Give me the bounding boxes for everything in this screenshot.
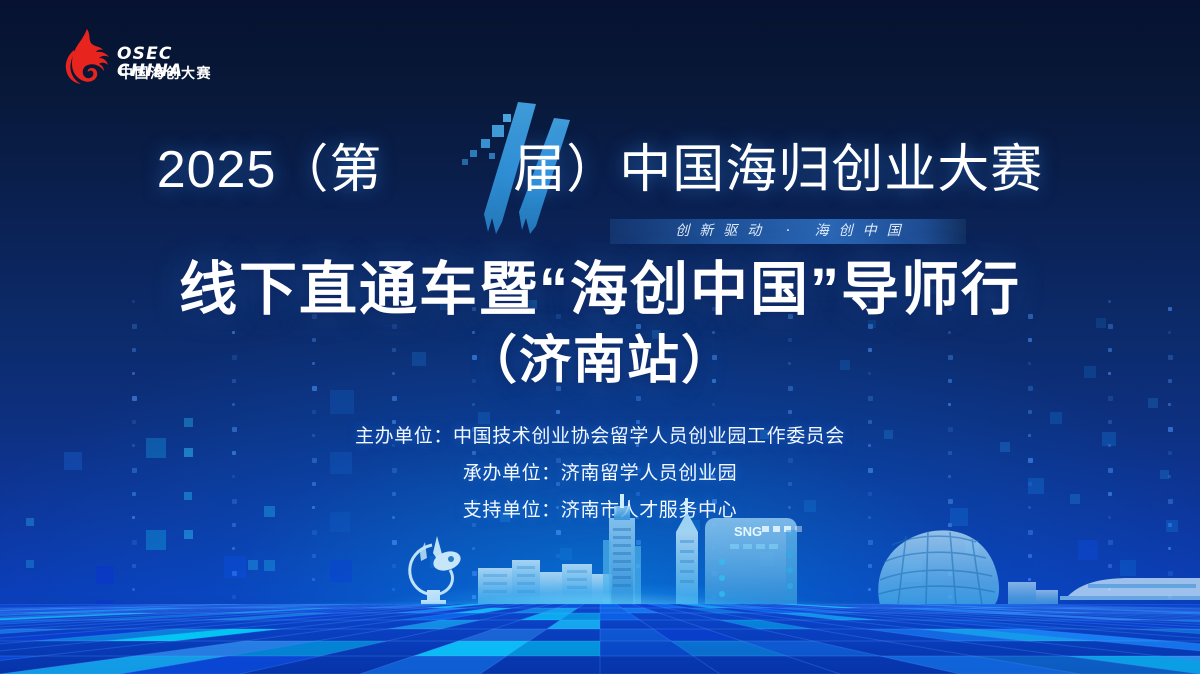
headline-line-2: （济南站） [0, 332, 1200, 390]
dome-structure-icon [878, 530, 999, 605]
slogan-ribbon: 创新驱动 · 海创中国 [610, 219, 966, 244]
event-title-suffix: 届）中国海归创业大赛 [513, 141, 1043, 199]
spring-sculpture-icon [410, 536, 463, 605]
jinan-skyline-illustration: SNG [0, 470, 1200, 615]
red-flame-logo-icon [57, 28, 119, 84]
stepped-tower-icon [603, 494, 641, 605]
grid-floor-svg [0, 604, 1200, 674]
perspective-grid-floor [0, 604, 1200, 674]
organizer-role: 主办单位： [355, 426, 453, 447]
slogan-text: 创新驱动 · 海创中国 [610, 219, 966, 244]
organizer-row: 主办单位：中国技术创业协会留学人员创业园工作委员会 [0, 418, 1200, 455]
osec-china-logo: OSEC CHINA 中国海创大赛 [57, 28, 217, 88]
organizer-name: 中国技术创业协会留学人员创业园工作委员会 [453, 426, 845, 447]
event-title-block: 2025（第 届）中国海归创业大赛 [0, 143, 1200, 198]
poster-canvas: OSEC CHINA 中国海创大赛 2025（第 届）中国海归创业大赛 [0, 0, 1200, 674]
high-speed-train-icon [1060, 578, 1200, 600]
sng-tower-icon: SNG [705, 518, 802, 605]
spire-tower-icon [676, 498, 698, 605]
event-title-prefix: 2025（第 [157, 141, 383, 199]
event-title: 2025（第 届）中国海归创业大赛 [157, 143, 1044, 198]
logo-chinese-text: 中国海创大赛 [119, 66, 212, 80]
headline-line-1: 线下直通车暨“海创中国”导师行 [0, 258, 1200, 323]
tower-label: SNG [734, 524, 762, 539]
